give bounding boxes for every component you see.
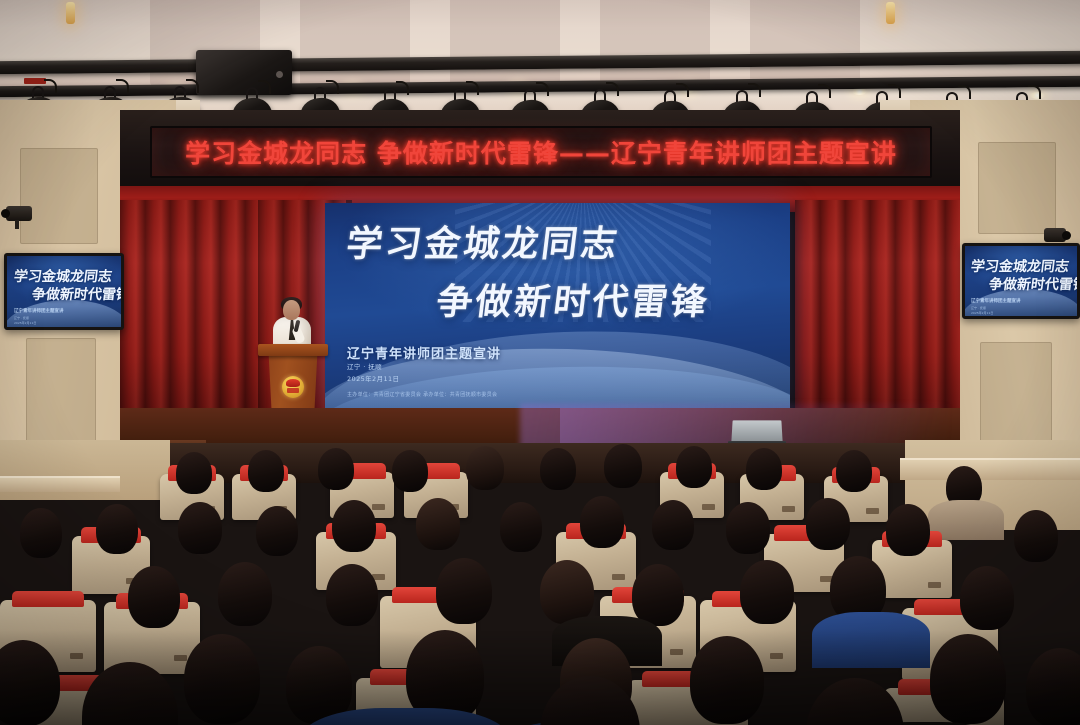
- audience-head: [128, 566, 180, 628]
- side-monitor-right-subtitle: 辽宁青年讲师团主题宣讲: [971, 298, 1021, 304]
- audience-head: [176, 452, 212, 494]
- wall-panel-upper-left: [20, 148, 98, 244]
- audience-head: [652, 500, 694, 550]
- screen-title-line2: 争做新时代雷锋: [325, 273, 790, 325]
- screen-location: 辽宁 · 抚顺: [347, 363, 382, 372]
- side-monitor-left-title1: 学习金城龙同志: [13, 266, 113, 286]
- side-monitor-left-title2: 争做新时代雷锋: [31, 284, 124, 304]
- audience-head: [806, 678, 904, 725]
- audience-area: [0, 440, 1080, 725]
- screen-title: 学习金城龙同志 争做新时代雷锋: [325, 215, 790, 325]
- youth-league-emblem-icon: [282, 376, 304, 398]
- screen-date: 2025年2月11日: [347, 375, 399, 384]
- side-monitor-left-meta: 辽宁 · 抚顺 2025年2月11日: [14, 316, 36, 325]
- main-projection-screen: 学习金城龙同志 争做新时代雷锋 辽宁青年讲师团主题宣讲 辽宁 · 抚顺 2025…: [325, 203, 790, 408]
- podium: [258, 344, 328, 418]
- side-monitor-right: 学习金城龙同志 争做新时代雷锋 辽宁青年讲师团主题宣讲 辽宁 · 抚顺 2025…: [962, 243, 1080, 319]
- audience-head: [256, 506, 298, 556]
- audience-head: [746, 448, 782, 490]
- audience-head: [416, 498, 460, 550]
- wall-camera-left-icon: [6, 206, 32, 221]
- audience-head: [604, 444, 642, 488]
- audience-head: [806, 498, 850, 550]
- audience-head: [326, 564, 378, 626]
- audience-head: [436, 558, 492, 624]
- audience-head: [1026, 648, 1080, 725]
- led-banner: 学习金城龙同志 争做新时代雷锋——辽宁青年讲师团主题宣讲: [150, 126, 932, 178]
- audience-head: [20, 508, 62, 558]
- screen-organizers: 主办单位：共青团辽宁省委员会 承办单位：共青团抚顺市委员会: [347, 391, 497, 398]
- aisle-rail-left: [0, 476, 120, 492]
- audience-head: [580, 496, 624, 548]
- audience-head: [218, 562, 272, 626]
- audience-head: [500, 502, 542, 552]
- audience-shoulders: [812, 612, 930, 668]
- audience-head: [886, 504, 930, 556]
- audience-head: [540, 448, 576, 490]
- aisle-rail-right: [900, 458, 1080, 480]
- audience-head: [726, 502, 770, 554]
- side-monitor-right-title2: 争做新时代雷锋: [988, 274, 1080, 294]
- side-monitor-right-title1: 学习金城龙同志: [970, 256, 1070, 276]
- audience-head: [740, 560, 794, 624]
- audience-head: [332, 500, 376, 552]
- audience-head: [248, 450, 284, 492]
- audience-head: [632, 564, 684, 626]
- side-monitor-left-subtitle: 辽宁青年讲师团主题宣讲: [14, 308, 64, 314]
- audience-head: [178, 502, 222, 554]
- wall-panel-upper-right: [978, 142, 1056, 234]
- audience-head: [676, 446, 712, 488]
- auditorium-scene: 学习金城龙同志 争做新时代雷锋——辽宁青年讲师团主题宣讲 学习金城龙同志 争做新…: [0, 0, 1080, 725]
- wall-camera-right-icon: [1044, 228, 1066, 242]
- audience-head: [540, 560, 594, 624]
- ceiling-sconce-right: [886, 2, 895, 24]
- led-banner-text: 学习金城龙同志 争做新时代雷锋——辽宁青年讲师团主题宣讲: [185, 134, 897, 170]
- audience-head: [1014, 510, 1058, 562]
- audience-head: [960, 566, 1014, 630]
- ceiling-sconce-left: [66, 2, 75, 24]
- audience-head: [930, 634, 1006, 724]
- side-monitor-left: 学习金城龙同志 争做新时代雷锋 辽宁青年讲师团主题宣讲 辽宁 · 抚顺 2025…: [4, 253, 124, 330]
- audience-head: [392, 450, 428, 492]
- audience-head: [184, 634, 260, 724]
- audience-head: [466, 446, 504, 490]
- side-monitor-right-meta: 辽宁 · 抚顺 2025年2月11日: [971, 306, 993, 315]
- audience-head: [690, 636, 764, 724]
- audience-head: [318, 448, 354, 490]
- screen-subtitle: 辽宁青年讲师团主题宣讲: [347, 343, 501, 362]
- screen-title-line1: 学习金城龙同志: [325, 215, 790, 267]
- audience-head: [96, 504, 138, 554]
- audience-head: [836, 450, 872, 492]
- truss-equipment-box: [196, 50, 292, 95]
